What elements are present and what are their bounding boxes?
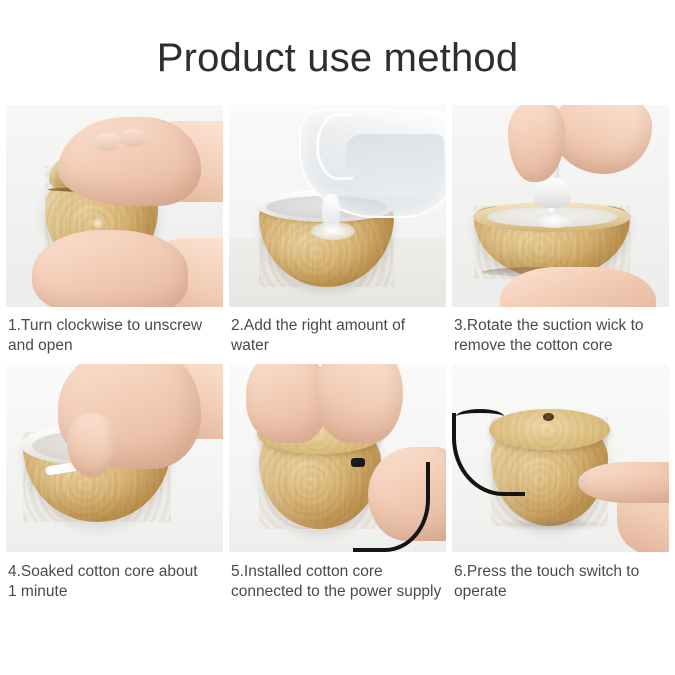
index-finger-pressing-switch xyxy=(578,462,669,503)
hand-right xyxy=(316,364,403,443)
step-caption-3: 3.Rotate the suction wick to remove the … xyxy=(452,307,669,364)
hand-bottom xyxy=(32,230,188,307)
step-photo-1 xyxy=(6,105,223,307)
usb-plug xyxy=(351,458,365,467)
step-caption-6: 6.Press the touch switch to operate xyxy=(452,552,669,610)
mist-outlet-hole xyxy=(543,413,554,421)
page-title: Product use method xyxy=(0,0,675,78)
step-caption-5: 5.Installed cotton core connected to the… xyxy=(229,552,446,610)
wick-cap xyxy=(534,178,571,208)
step-caption-2: 2.Add the right amount of water xyxy=(229,307,446,364)
step-card-3: 3.Rotate the suction wick to remove the … xyxy=(452,105,669,364)
step-photo-5 xyxy=(229,364,446,552)
step-card-6: 6.Press the touch switch to operate xyxy=(452,364,669,610)
thumb xyxy=(67,413,115,477)
steps-grid: 1.Turn clockwise to unscrew and open 2.A… xyxy=(0,105,675,610)
product-instruction-page: Product use method 1.Turn clockwise to u… xyxy=(0,0,675,675)
touch-button-highlight xyxy=(91,218,105,228)
step-photo-6 xyxy=(452,364,669,552)
step-card-2: 2.Add the right amount of water xyxy=(229,105,446,364)
step-photo-4 xyxy=(6,364,223,552)
step-card-1: 1.Turn clockwise to unscrew and open xyxy=(6,105,223,364)
step-caption-4: 4.Soaked cotton core about 1 minute xyxy=(6,552,223,610)
pitcher-handle xyxy=(316,113,354,180)
step-card-4: 4.Soaked cotton core about 1 minute xyxy=(6,364,223,610)
step-photo-3 xyxy=(452,105,669,307)
wick-base-disc xyxy=(534,212,573,228)
step-photo-2 xyxy=(229,105,446,307)
pitcher-water xyxy=(346,134,443,197)
step-caption-1: 1.Turn clockwise to unscrew and open xyxy=(6,307,223,364)
step-card-5: 5.Installed cotton core connected to the… xyxy=(229,364,446,610)
